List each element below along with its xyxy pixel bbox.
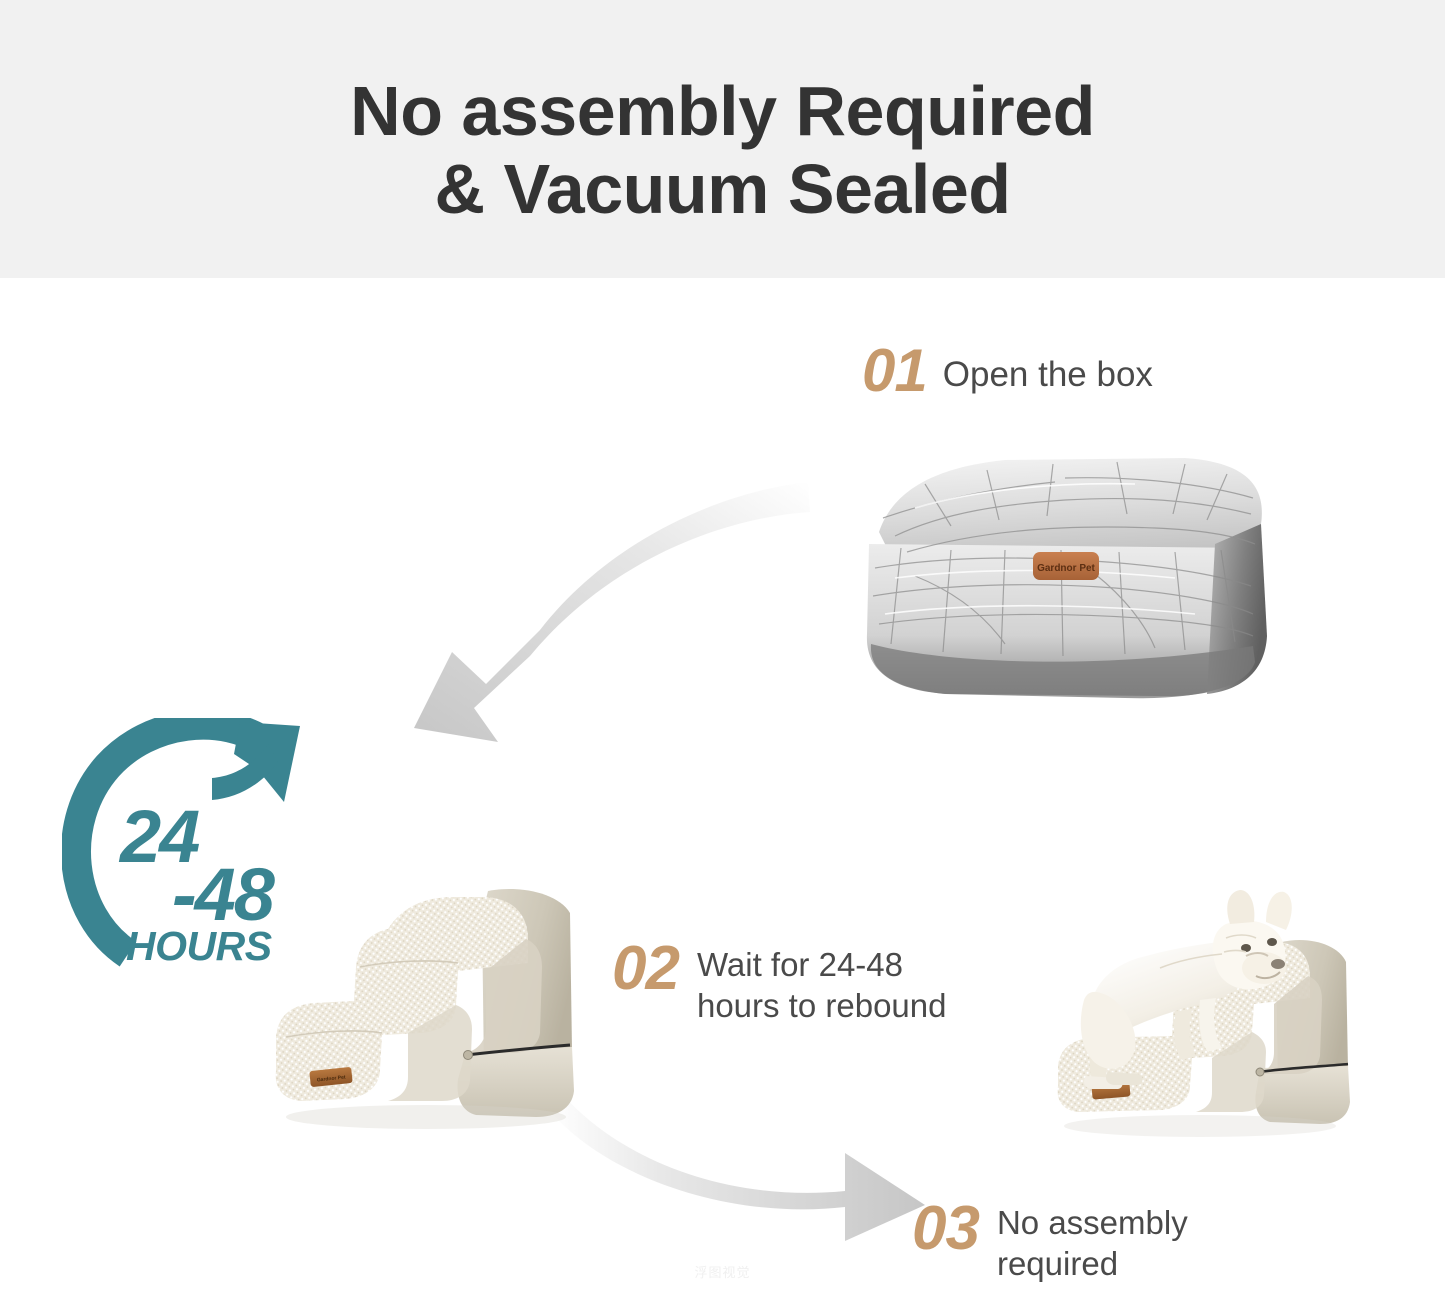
dog-on-stairs-image — [1050, 880, 1390, 1185]
arrow-step-01-to-02 — [390, 470, 810, 765]
step-02-label: 02 Wait for 24-48 hours to rebound — [612, 938, 946, 1026]
step-03-text-line-1: No assembly — [997, 1202, 1188, 1243]
header-band: No assembly Required & Vacuum Sealed — [0, 0, 1445, 278]
hours-badge-bottom-number: -48 — [172, 858, 273, 932]
pet-stairs-image: Gardnor Pet — [270, 855, 630, 1180]
step-01-label: 01 Open the box — [862, 340, 1153, 402]
vacuum-sealed-package-image: Gardnor Pet — [855, 448, 1285, 713]
step-02-text-line-1: Wait for 24-48 — [697, 944, 947, 985]
page-title-line-2: & Vacuum Sealed — [0, 150, 1445, 228]
package-brand-tag-label: Gardnor Pet — [1037, 563, 1095, 574]
page-title-line-1: No assembly Required — [0, 72, 1445, 150]
step-01-number: 01 — [862, 340, 927, 402]
step-02-text-line-2: hours to rebound — [697, 985, 947, 1026]
step-01-text-line-1: Open the box — [943, 354, 1153, 396]
step-02-text: Wait for 24-48 hours to rebound — [697, 938, 947, 1026]
step-01-text: Open the box — [943, 340, 1153, 396]
page-title: No assembly Required & Vacuum Sealed — [0, 72, 1445, 228]
watermark: 浮图视觉 — [0, 1262, 1445, 1281]
hours-badge-unit-label: HOURS — [126, 926, 272, 967]
infographic-page: No assembly Required & Vacuum Sealed 01 … — [0, 0, 1445, 1294]
